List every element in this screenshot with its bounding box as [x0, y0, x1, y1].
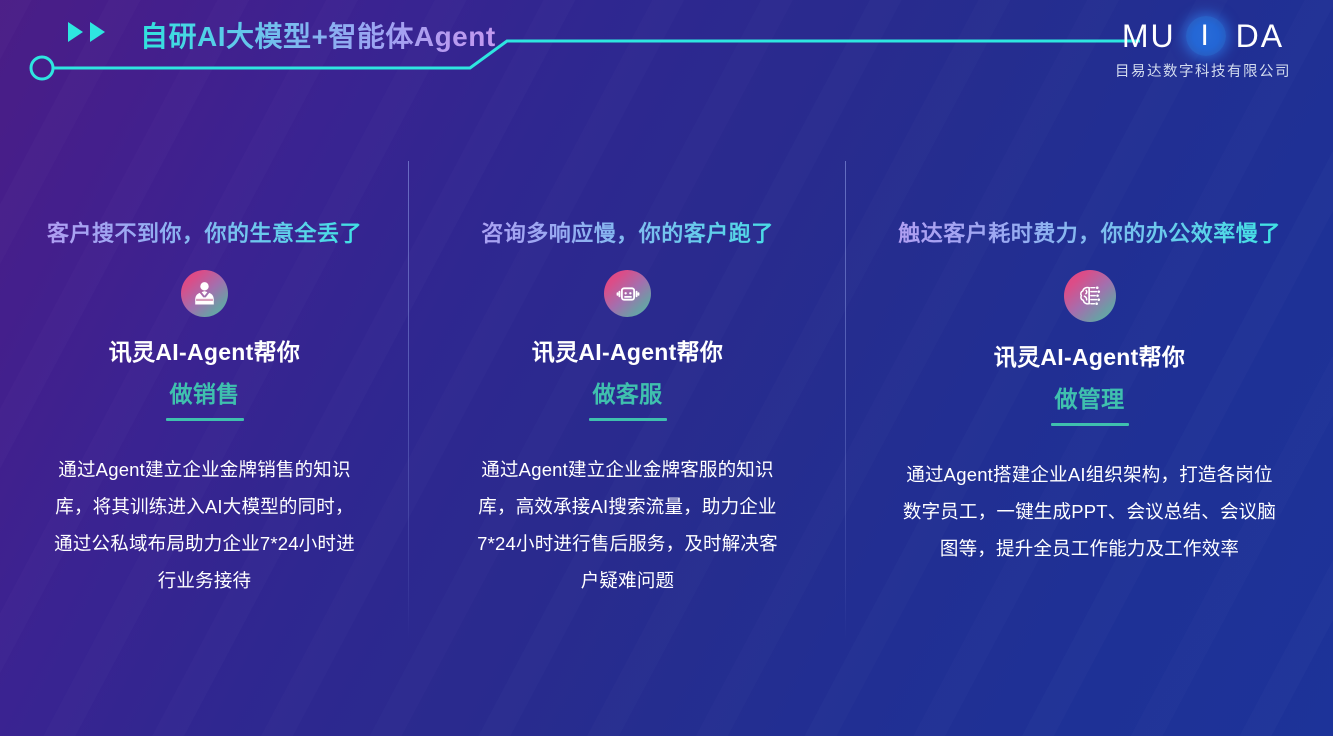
slide-root: 自研AI大模型+智能体Agent MU I DA 目易达数字科技有限公司 客户搜… [0, 0, 1333, 736]
role-underline [1051, 423, 1129, 426]
role-title: 做管理 [864, 380, 1315, 414]
agent-title: 讯灵AI-Agent帮你 [427, 333, 828, 367]
header: 自研AI大模型+智能体Agent MU I DA 目易达数字科技有限公司 [0, 0, 1333, 100]
circle-node-icon [31, 57, 53, 79]
logo-glow-orb: I [1186, 16, 1226, 56]
column-heading: 客户搜不到你，你的生意全丢了 [18, 216, 391, 248]
logo-text-da: DA [1236, 18, 1284, 55]
feature-column-service: 咨询多响应慢，你的客户跑了 讯灵AI-Agent帮你 做客服 通过Agent建立… [409, 160, 846, 640]
logo-subtitle: 目易达数字科技有限公司 [1103, 60, 1303, 81]
role-title: 做销售 [18, 375, 391, 409]
logo-text-mu: MU [1122, 18, 1176, 55]
logo-text-i: I [1200, 19, 1210, 53]
role-underline [166, 418, 244, 421]
double-play-arrow-icon [68, 22, 105, 42]
agent-title: 讯灵AI-Agent帮你 [864, 338, 1315, 372]
column-body: 通过Agent建立企业金牌客服的知识库，高效承接AI搜索流量，助力企业7*24小… [471, 451, 785, 599]
feature-column-management: 触达客户耗时费力，你的办公效率慢了 [846, 160, 1333, 640]
robot-icon [604, 270, 651, 317]
logo-wordmark: MU I DA [1103, 14, 1303, 58]
feature-columns: 客户搜不到你，你的生意全丢了 讯灵AI-Agent帮你 做销售 通过Agent建… [0, 160, 1333, 640]
logo: MU I DA 目易达数字科技有限公司 [1103, 14, 1303, 81]
page-title: 自研AI大模型+智能体Agent [140, 15, 496, 55]
agent-title: 讯灵AI-Agent帮你 [18, 333, 391, 367]
column-body: 通过Agent建立企业金牌销售的知识库，将其训练进入AI大模型的同时，通过公私域… [50, 451, 360, 599]
ai-brain-icon [1064, 270, 1116, 322]
role-title: 做客服 [427, 375, 828, 409]
role-underline [589, 418, 667, 421]
feature-column-sales: 客户搜不到你，你的生意全丢了 讯灵AI-Agent帮你 做销售 通过Agent建… [0, 160, 409, 640]
column-heading: 触达客户耗时费力，你的办公效率慢了 [864, 216, 1315, 248]
businessperson-icon [181, 270, 228, 317]
column-body: 通过Agent搭建企业AI组织架构，打造各岗位数字员工，一键生成PPT、会议总结… [901, 456, 1279, 567]
column-heading: 咨询多响应慢，你的客户跑了 [427, 216, 828, 248]
